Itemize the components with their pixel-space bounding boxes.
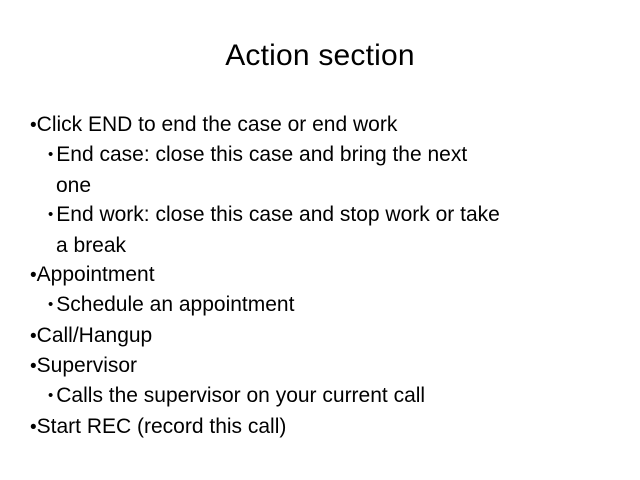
list-item-continuation: one [30, 171, 630, 200]
list-item: •End case: close this case and bring the… [30, 140, 630, 171]
bullet-icon: • [48, 290, 53, 319]
list-item: •Start REC (record this call) [30, 412, 630, 442]
list-item-label: Calls the supervisor on your current cal… [56, 384, 425, 407]
list-item-label: Start REC (record this call) [37, 415, 287, 438]
list-item: •Supervisor [30, 351, 630, 381]
list-item-label: End case: close this case and bring the … [56, 143, 467, 166]
list-item-continuation: a break [30, 231, 630, 260]
list-item: •End work: close this case and stop work… [30, 200, 630, 231]
bullet-icon: • [30, 322, 37, 351]
list-item-label: a break [56, 234, 126, 257]
bullet-icon: • [30, 352, 37, 381]
bullet-icon: • [48, 381, 53, 410]
presentation-slide: Action section •Click END to end the cas… [0, 0, 640, 480]
list-item-label: Schedule an appointment [56, 293, 294, 316]
bullet-icon: • [48, 200, 53, 229]
list-item-label: Click END to end the case or end work [37, 113, 398, 136]
bullet-icon: • [30, 413, 37, 442]
list-item-label: Appointment [37, 263, 155, 286]
bullet-icon: • [30, 111, 37, 140]
bullet-icon: • [48, 140, 53, 169]
bullet-icon: • [30, 261, 37, 290]
list-item-label: Call/Hangup [37, 324, 153, 347]
list-item: •Schedule an appointment [30, 290, 630, 321]
page-title: Action section [0, 38, 640, 74]
list-item: •Appointment [30, 260, 630, 290]
list-item-label: End work: close this case and stop work … [56, 203, 500, 226]
list-item: •Call/Hangup [30, 321, 630, 351]
list-item: •Click END to end the case or end work [30, 110, 630, 140]
list-item: •Calls the supervisor on your current ca… [30, 381, 630, 412]
bullet-list: •Click END to end the case or end work•E… [30, 110, 630, 442]
list-item-label: Supervisor [37, 354, 137, 377]
list-item-label: one [56, 174, 91, 197]
